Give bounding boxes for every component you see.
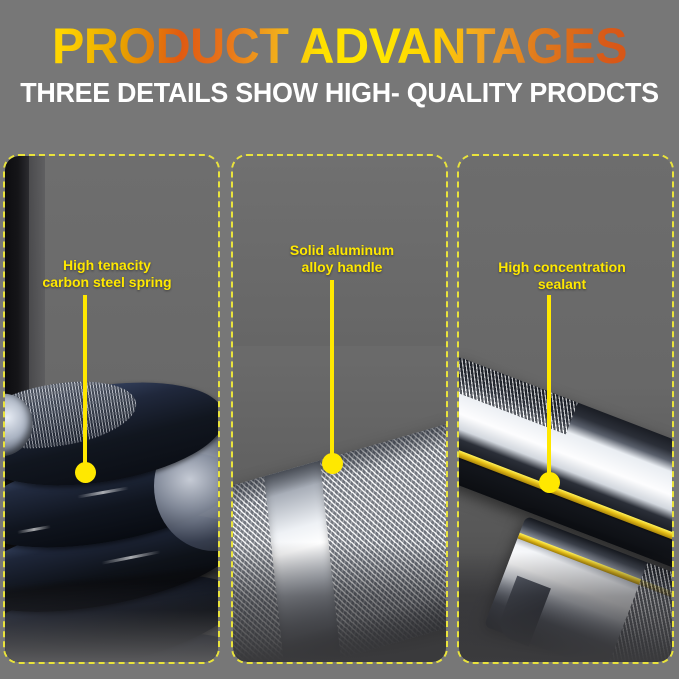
pointer-line-spring	[83, 295, 87, 470]
detail-panel-spring[interactable]	[3, 154, 220, 664]
handle-floor-gradient	[233, 542, 446, 662]
spring-floor-gradient	[5, 582, 218, 662]
page-title: PRODUCT ADVANTAGES	[10, 17, 669, 75]
pointer-dot-sealant	[539, 472, 560, 493]
spring-photo	[5, 156, 218, 662]
detail-panel-sealant[interactable]	[457, 154, 674, 664]
pointer-line-sealant	[547, 295, 551, 480]
sealant-photo	[459, 156, 672, 662]
annotation-label-spring: High tenacity carbon steel spring	[22, 257, 192, 291]
page-subtitle: THREE DETAILS SHOW HIGH- QUALITY PRODCTS	[14, 76, 666, 110]
sealant-floor-gradient	[459, 552, 672, 662]
pointer-dot-spring	[75, 462, 96, 483]
annotation-label-sealant: High concentration sealant	[472, 259, 652, 293]
banner-header: PRODUCT ADVANTAGES THREE DETAILS SHOW HI…	[0, 0, 679, 140]
pointer-dot-handle	[322, 453, 343, 474]
detail-panel-handle[interactable]	[231, 154, 448, 664]
pointer-line-handle	[330, 280, 334, 460]
product-advantages-banner: PRODUCT ADVANTAGES THREE DETAILS SHOW HI…	[0, 0, 679, 679]
handle-photo	[233, 156, 446, 662]
annotation-label-handle: Solid aluminum alloy handle	[262, 242, 422, 276]
